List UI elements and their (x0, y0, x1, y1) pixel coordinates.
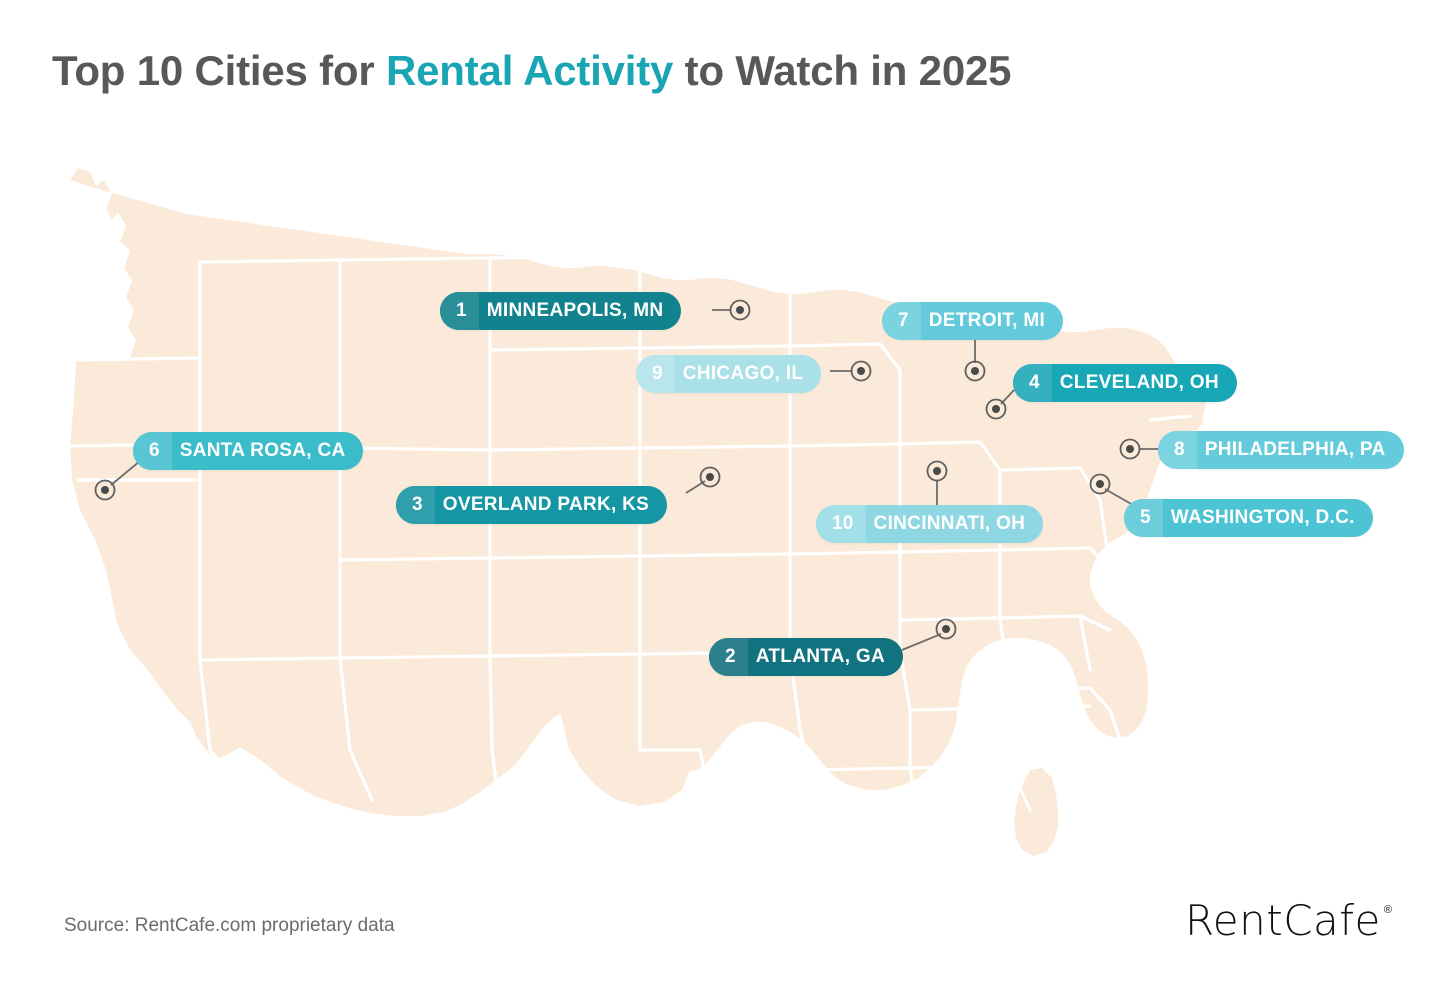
city-name: CINCINNATI, OH (866, 505, 1044, 543)
city-rank: 10 (816, 505, 866, 543)
page-title: Top 10 Cities for Rental Activity to Wat… (52, 46, 1011, 96)
city-label-cleveland[interactable]: 4 CLEVELAND, OH (1013, 364, 1237, 402)
title-part-2: to Watch in 2025 (673, 47, 1011, 94)
city-rank: 9 (636, 355, 675, 393)
city-name: OVERLAND PARK, KS (435, 486, 667, 524)
city-label-overland-park[interactable]: 3 OVERLAND PARK, KS (396, 486, 667, 524)
city-rank: 3 (396, 486, 435, 524)
source-note: Source: RentCafe.com proprietary data (64, 915, 395, 937)
city-label-washington-dc[interactable]: 5 WASHINGTON, D.C. (1124, 499, 1373, 537)
city-label-chicago[interactable]: 9 CHICAGO, IL (636, 355, 821, 393)
city-name: DETROIT, MI (921, 302, 1063, 340)
city-label-detroit[interactable]: 7 DETROIT, MI (882, 302, 1063, 340)
florida (1014, 768, 1058, 856)
city-name: SANTA ROSA, CA (172, 432, 364, 470)
logo-wordmark: RentCafe (1185, 900, 1381, 942)
city-rank: 8 (1158, 431, 1197, 469)
city-name: ATLANTA, GA (748, 638, 903, 676)
city-name: CHICAGO, IL (675, 355, 821, 393)
title-accent: Rental Activity (386, 47, 673, 94)
city-rank: 1 (440, 292, 479, 330)
city-label-santa-rosa[interactable]: 6 SANTA ROSA, CA (133, 432, 363, 470)
title-part-1: Top 10 Cities for (52, 47, 386, 94)
city-name: MINNEAPOLIS, MN (479, 292, 682, 330)
city-rank: 5 (1124, 499, 1163, 537)
city-name: PHILADELPHIA, PA (1197, 431, 1404, 469)
city-name: WASHINGTON, D.C. (1163, 499, 1373, 537)
city-label-minneapolis[interactable]: 1 MINNEAPOLIS, MN (440, 292, 681, 330)
registered-trademark-icon: ® (1384, 904, 1392, 916)
city-rank: 4 (1013, 364, 1052, 402)
city-label-cincinnati[interactable]: 10 CINCINNATI, OH (816, 505, 1043, 543)
rentcafe-logo: RentCafe ® (1185, 900, 1392, 942)
city-name: CLEVELAND, OH (1052, 364, 1237, 402)
city-rank: 2 (709, 638, 748, 676)
city-label-atlanta[interactable]: 2 ATLANTA, GA (709, 638, 903, 676)
city-rank: 6 (133, 432, 172, 470)
city-rank: 7 (882, 302, 921, 340)
city-label-philadelphia[interactable]: 8 PHILADELPHIA, PA (1158, 431, 1404, 469)
infographic-canvas: Top 10 Cities for Rental Activity to Wat… (0, 0, 1440, 983)
